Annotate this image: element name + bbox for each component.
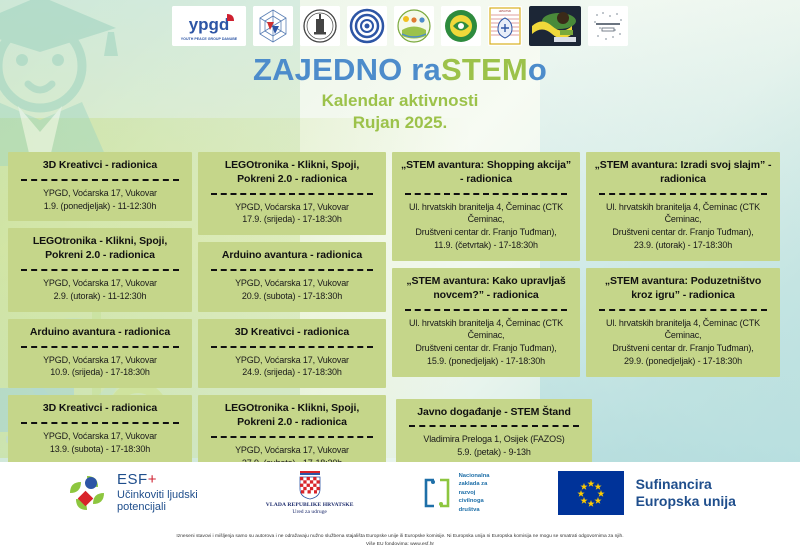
calendar-column-2: LEGOtronika - Klikni, Spoji, Pokreni 2.0… — [198, 152, 386, 452]
event-card[interactable]: „STEM avantura: Poduzetništvo kroz igru”… — [586, 268, 780, 377]
event-card-datetime: 15.9. (ponedjeljak) - 17-18:30h — [399, 355, 573, 368]
title-part-stem: STEM — [441, 52, 528, 87]
card-divider — [599, 193, 767, 195]
event-card-title: Arduino avantura - radionica — [205, 249, 379, 263]
footer-logo-row: ESF+ Učinkoviti ljudski potencijali — [0, 462, 800, 524]
vlada-line-2: Ured za udruge — [266, 509, 354, 516]
event-card-datetime: 29.9. (ponedjeljak) - 17-18:30h — [593, 355, 773, 368]
event-card[interactable]: „STEM avantura: Shopping akcija” - radio… — [392, 152, 580, 261]
event-card-location-2: Društveni centar dr. Franjo Tuđman), — [593, 226, 773, 239]
event-card-datetime: 1.9. (ponedjeljak) - 11-12:30h — [15, 200, 185, 213]
card-divider — [21, 179, 179, 181]
vlada-text-block: VLADA REPUBLIKE HRVATSKE Ured za udruge — [266, 502, 354, 515]
poster-root: ypgd YOUTH PEACE GROUP DANUBE — [0, 0, 800, 552]
event-card-title: 3D Kreativci - radionica — [205, 326, 379, 340]
eu-logo: Sufinancira Europska unija — [558, 471, 736, 515]
eu-text-block: Sufinancira Europska unija — [636, 476, 736, 510]
partner-logo-2 — [253, 6, 293, 46]
public-event-datetime: 5.9. (petak) - 9-13h — [403, 446, 585, 459]
event-card[interactable]: Arduino avantura - radionica YPGD, Voćar… — [198, 242, 386, 311]
brackets-icon — [422, 475, 452, 511]
event-card-location: Ul. hrvatskih branitelja 4, Čeminac (CTK… — [593, 201, 773, 227]
event-card[interactable]: 3D Kreativci - radionica YPGD, Voćarska … — [8, 395, 192, 464]
event-card-title: LEGOtronika - Klikni, Spoji, Pokreni 2.0… — [205, 159, 379, 187]
esf-logo: ESF+ Učinkoviti ljudski potencijali — [64, 470, 198, 516]
calendar-column-4: „STEM avantura: Izradi svoj slajm” - rad… — [586, 152, 780, 452]
event-card-location: YPGD, Voćarska 17, Vukovar — [205, 277, 379, 290]
event-card-datetime: 23.9. (utorak) - 17-18:30h — [593, 239, 773, 252]
card-divider — [21, 269, 179, 271]
event-card-location-2: Društveni centar dr. Franjo Tuđman), — [399, 226, 573, 239]
event-card[interactable]: LEGOtronika - Klikni, Spoji, Pokreni 2.0… — [8, 228, 192, 311]
event-card-title: „STEM avantura: Izradi svoj slajm” - rad… — [593, 159, 773, 187]
event-card-datetime: 10.9. (srijeda) - 17-18:30h — [15, 366, 185, 379]
card-divider — [409, 425, 579, 427]
event-card[interactable]: Arduino avantura - radionica YPGD, Voćar… — [8, 319, 192, 388]
disclaimer-line-1: Izneseni stavovi i mišljenja samo su aut… — [20, 533, 780, 541]
esf-line-1: Učinkoviti ljudski — [117, 489, 198, 501]
poster-title-block: ZAJEDNO raSTEMo Kalendar aktivnosti Ruja… — [0, 54, 800, 134]
eu-line-2: Europska unija — [636, 493, 736, 510]
event-card-title: 3D Kreativci - radionica — [15, 159, 185, 173]
croatian-coat-of-arms-icon — [297, 470, 323, 500]
svg-text:YOUTH PEACE GROUP DANUBE: YOUTH PEACE GROUP DANUBE — [181, 37, 238, 41]
esf-flower-icon — [64, 470, 110, 516]
eu-line-1: Sufinancira — [636, 476, 736, 493]
event-card-datetime: 17.9. (srijeda) - 17-18:30h — [205, 213, 379, 226]
event-card-location-2: Društveni centar dr. Franjo Tuđman), — [593, 342, 773, 355]
event-card-location-2: Društveni centar dr. Franjo Tuđman), — [399, 342, 573, 355]
svg-text:HRVATSKI: HRVATSKI — [499, 9, 512, 13]
svg-text:ypgd: ypgd — [189, 15, 230, 34]
event-card-title: LEGOtronika - Klikni, Spoji, Pokreni 2.0… — [205, 402, 379, 430]
card-divider — [211, 346, 373, 348]
footer: ESF+ Učinkoviti ljudski potencijali — [0, 462, 800, 552]
event-card-location: YPGD, Voćarska 17, Vukovar — [15, 354, 185, 367]
nzrcd-line-4: civilnoga — [459, 497, 490, 505]
event-card-title: „STEM avantura: Shopping akcija” - radio… — [399, 159, 573, 187]
public-event-title: Javno događanje - STEM Štand — [403, 406, 585, 420]
event-card-location: YPGD, Voćarska 17, Vukovar — [15, 430, 185, 443]
partner-logo-7: HRVATSKI — [488, 6, 522, 46]
event-card[interactable]: „STEM avantura: Kako upravljaš novcem?” … — [392, 268, 580, 377]
partner-logo-6 — [441, 6, 481, 46]
event-card-location: Ul. hrvatskih branitelja 4, Čeminac (CTK… — [399, 317, 573, 343]
card-divider — [211, 193, 373, 195]
event-card[interactable]: „STEM avantura: Izradi svoj slajm” - rad… — [586, 152, 780, 261]
ypgd-logo: ypgd YOUTH PEACE GROUP DANUBE — [172, 6, 246, 46]
event-card-location: YPGD, Voćarska 17, Vukovar — [205, 201, 379, 214]
partner-logo-9 — [588, 6, 628, 46]
event-card-title: „STEM avantura: Poduzetništvo kroz igru”… — [593, 275, 773, 303]
event-card-location: Ul. hrvatskih branitelja 4, Čeminac (CTK… — [399, 201, 573, 227]
event-card-location: YPGD, Voćarska 17, Vukovar — [15, 187, 185, 200]
card-divider — [21, 422, 179, 424]
event-card-location: YPGD, Voćarska 17, Vukovar — [205, 354, 379, 367]
event-card-location: YPGD, Voćarska 17, Vukovar — [205, 444, 379, 457]
disclaimer-line-2: Više EU fondovima: www.esf.hr — [20, 541, 780, 549]
event-card-datetime: 2.9. (utorak) - 11-12:30h — [15, 290, 185, 303]
title-part-1: ZAJEDNO ra — [253, 52, 441, 87]
card-divider — [405, 309, 567, 311]
event-card-datetime: 13.9. (subota) - 17-18:30h — [15, 443, 185, 456]
partner-logo-5 — [394, 6, 434, 46]
partner-logo-4 — [347, 6, 387, 46]
event-card-datetime: 20.9. (subota) - 17-18:30h — [205, 290, 379, 303]
page-subtitle: Kalendar aktivnosti — [0, 90, 800, 112]
partner-logo-strip: ypgd YOUTH PEACE GROUP DANUBE — [0, 4, 800, 48]
event-card-title: Arduino avantura - radionica — [15, 326, 185, 340]
disclaimer-text: Izneseni stavovi i mišljenja samo su aut… — [0, 533, 800, 549]
title-part-3: o — [528, 52, 547, 87]
event-card-title: „STEM avantura: Kako upravljaš novcem?” … — [399, 275, 573, 303]
event-card-title: 3D Kreativci - radionica — [15, 402, 185, 416]
page-subtitle-month: Rujan 2025. — [0, 112, 800, 134]
public-event-location: Vladimira Preloga 1, Osijek (FAZOS) — [403, 433, 585, 446]
eu-flag-icon — [558, 471, 624, 515]
card-divider — [599, 309, 767, 311]
event-card[interactable]: LEGOtronika - Klikni, Spoji, Pokreni 2.0… — [198, 152, 386, 235]
nzrcd-line-2: zaklada za — [459, 480, 490, 488]
card-divider — [405, 193, 567, 195]
nzrcd-line-3: razvoj — [459, 489, 490, 497]
event-card[interactable]: 3D Kreativci - radionica YPGD, Voćarska … — [198, 319, 386, 388]
vlada-logo: VLADA REPUBLIKE HRVATSKE Ured za udruge — [266, 470, 354, 515]
nzrcd-logo: Nacionalna zaklada za razvoj civilnoga d… — [422, 472, 490, 514]
event-card-datetime: 11.9. (četvrtak) - 17-18:30h — [399, 239, 573, 252]
card-divider — [21, 346, 179, 348]
calendar-grid: 3D Kreativci - radionica YPGD, Voćarska … — [0, 152, 800, 452]
esf-title: ESF+ — [117, 472, 198, 489]
card-divider — [211, 269, 373, 271]
event-card-title: LEGOtronika - Klikni, Spoji, Pokreni 2.0… — [15, 235, 185, 263]
calendar-column-3: „STEM avantura: Shopping akcija” - radio… — [392, 152, 580, 452]
event-card-location: Ul. hrvatskih branitelja 4, Čeminac (CTK… — [593, 317, 773, 343]
page-title: ZAJEDNO raSTEMo — [0, 54, 800, 87]
vlada-line-1: VLADA REPUBLIKE HRVATSKE — [266, 502, 354, 509]
event-card-datetime: 24.9. (srijeda) - 17-18:30h — [205, 366, 379, 379]
calendar-column-1: 3D Kreativci - radionica YPGD, Voćarska … — [8, 152, 192, 452]
card-divider — [211, 436, 373, 438]
public-event-card[interactable]: Javno događanje - STEM Štand Vladimira P… — [396, 399, 592, 468]
esf-line-2: potencijali — [117, 501, 198, 513]
event-card[interactable]: 3D Kreativci - radionica YPGD, Voćarska … — [8, 152, 192, 221]
nzrcd-line-1: Nacionalna — [459, 472, 490, 480]
event-card-location: YPGD, Voćarska 17, Vukovar — [15, 277, 185, 290]
nzrcd-text-block: Nacionalna zaklada za razvoj civilnoga d… — [459, 472, 490, 514]
nzrcd-line-5: društva — [459, 506, 490, 514]
partner-logo-3 — [300, 6, 340, 46]
partner-logo-8 — [529, 6, 581, 46]
esf-text-block: ESF+ Učinkoviti ljudski potencijali — [117, 472, 198, 513]
